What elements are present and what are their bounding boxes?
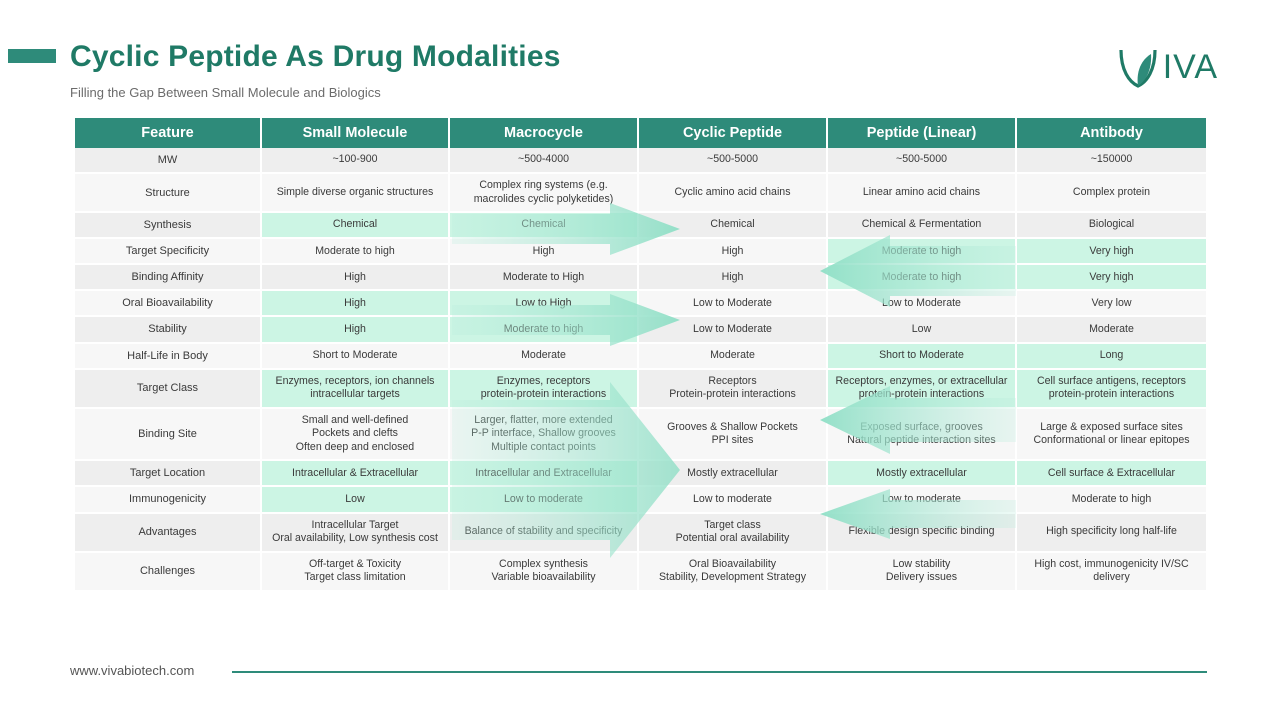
row-feature-label: Half-Life in Body: [75, 343, 261, 369]
table-cell: Oral BioavailabilityStability, Developme…: [638, 552, 827, 591]
table-cell: Balance of stability and specificity: [449, 513, 638, 552]
table-row: Binding SiteSmall and well-definedPocket…: [75, 408, 1206, 461]
table-cell: Low to moderate: [449, 486, 638, 512]
table-cell: Moderate to high: [261, 238, 449, 264]
row-feature-label: Structure: [75, 173, 261, 212]
table-cell: Mostly extracellular: [638, 460, 827, 486]
table-cell: Low to High: [449, 290, 638, 316]
column-header-feature: Feature: [75, 118, 261, 148]
table-cell: High: [638, 238, 827, 264]
table-cell: Larger, flatter, more extendedP-P interf…: [449, 408, 638, 461]
row-feature-label: Target Location: [75, 460, 261, 486]
table-cell: ~150000: [1016, 148, 1206, 173]
table-cell: Biological: [1016, 212, 1206, 238]
table-row: MW~100-900~500-4000~500-5000~500-5000~15…: [75, 148, 1206, 173]
table-cell: Simple diverse organic structures: [261, 173, 449, 212]
table-cell: Intracellular TargetOral availability, L…: [261, 513, 449, 552]
column-header-small-molecule: Small Molecule: [261, 118, 449, 148]
table-cell: Chemical: [261, 212, 449, 238]
table-cell: ~100-900: [261, 148, 449, 173]
table-cell: Low to moderate: [827, 486, 1016, 512]
table-cell: Low to moderate: [638, 486, 827, 512]
table-cell: ~500-5000: [638, 148, 827, 173]
table-cell: Intracellular & Extracellular: [261, 460, 449, 486]
row-feature-label: Oral Bioavailability: [75, 290, 261, 316]
table-cell: Linear amino acid chains: [827, 173, 1016, 212]
table-cell: Receptors, enzymes, or extracellularprot…: [827, 369, 1016, 408]
row-feature-label: Binding Affinity: [75, 264, 261, 290]
table-cell: Moderate: [1016, 316, 1206, 342]
table-cell: Cell surface & Extracellular: [1016, 460, 1206, 486]
table-cell: Low to Moderate: [638, 290, 827, 316]
column-header-cyclic-peptide: Cyclic Peptide: [638, 118, 827, 148]
table-cell: Complex synthesisVariable bioavailabilit…: [449, 552, 638, 591]
table-cell: Very high: [1016, 238, 1206, 264]
table-cell: Complex protein: [1016, 173, 1206, 212]
table-row: Target ClassEnzymes, receptors, ion chan…: [75, 369, 1206, 408]
table-cell: Low to Moderate: [827, 290, 1016, 316]
column-header-macrocycle: Macrocycle: [449, 118, 638, 148]
column-header-peptide-linear: Peptide (Linear): [827, 118, 1016, 148]
table-cell: Moderate: [638, 343, 827, 369]
table-cell: High: [261, 290, 449, 316]
table-cell: Target classPotential oral availability: [638, 513, 827, 552]
table-cell: Short to Moderate: [261, 343, 449, 369]
footer-url: www.vivabiotech.com: [70, 663, 194, 678]
table-cell: High: [638, 264, 827, 290]
table-cell: Complex ring systems (e.g. macrolides cy…: [449, 173, 638, 212]
table-row: Target SpecificityModerate to highHighHi…: [75, 238, 1206, 264]
table-cell: Very high: [1016, 264, 1206, 290]
row-feature-label: Target Class: [75, 369, 261, 408]
header-accent-bar: [8, 49, 56, 63]
column-header-antibody: Antibody: [1016, 118, 1206, 148]
page-subtitle: Filling the Gap Between Small Molecule a…: [70, 85, 381, 100]
table-cell: Low: [827, 316, 1016, 342]
table-cell: Moderate: [449, 343, 638, 369]
table-cell: Mostly extracellular: [827, 460, 1016, 486]
table-cell: Low: [261, 486, 449, 512]
table-cell: Exposed surface, groovesNatural peptide …: [827, 408, 1016, 461]
row-feature-label: Synthesis: [75, 212, 261, 238]
table-row: Binding AffinityHighModerate to HighHigh…: [75, 264, 1206, 290]
table-cell: Chemical & Fermentation: [827, 212, 1016, 238]
table-cell: Intracellular and Extracellular: [449, 460, 638, 486]
table-cell: High: [261, 316, 449, 342]
table-cell: Large & exposed surface sitesConformatio…: [1016, 408, 1206, 461]
table-row: AdvantagesIntracellular TargetOral avail…: [75, 513, 1206, 552]
table-cell: High cost, immunogenicity IV/SCdelivery: [1016, 552, 1206, 591]
table-row: StabilityHighModerate to highLow to Mode…: [75, 316, 1206, 342]
table-cell: Short to Moderate: [827, 343, 1016, 369]
table-header-row: Feature Small Molecule Macrocycle Cyclic…: [75, 118, 1206, 148]
row-feature-label: MW: [75, 148, 261, 173]
table-row: Half-Life in BodyShort to ModerateModera…: [75, 343, 1206, 369]
row-feature-label: Stability: [75, 316, 261, 342]
row-feature-label: Binding Site: [75, 408, 261, 461]
table-cell: Moderate to high: [827, 264, 1016, 290]
table-cell: Moderate to high: [1016, 486, 1206, 512]
table-cell: High specificity long half-life: [1016, 513, 1206, 552]
table-row: ChallengesOff-target & ToxicityTarget cl…: [75, 552, 1206, 591]
table-cell: Cell surface antigens, receptorsprotein-…: [1016, 369, 1206, 408]
table-cell: Very low: [1016, 290, 1206, 316]
table-cell: ~500-5000: [827, 148, 1016, 173]
table-row: StructureSimple diverse organic structur…: [75, 173, 1206, 212]
footer-divider: [232, 671, 1207, 673]
company-logo: IVA: [1115, 44, 1218, 90]
row-feature-label: Immunogenicity: [75, 486, 261, 512]
table-cell: High: [449, 238, 638, 264]
logo-text: IVA: [1163, 48, 1218, 87]
table-cell: High: [261, 264, 449, 290]
table-row: Target LocationIntracellular & Extracell…: [75, 460, 1206, 486]
table-cell: Long: [1016, 343, 1206, 369]
table-cell: Grooves & Shallow PocketsPPI sites: [638, 408, 827, 461]
table-cell: Enzymes, receptors, ion channelsintracel…: [261, 369, 449, 408]
table-cell: Moderate to high: [449, 316, 638, 342]
table-cell: Moderate to high: [827, 238, 1016, 264]
row-feature-label: Challenges: [75, 552, 261, 591]
row-feature-label: Target Specificity: [75, 238, 261, 264]
row-feature-label: Advantages: [75, 513, 261, 552]
table-row: ImmunogenicityLowLow to moderateLow to m…: [75, 486, 1206, 512]
table-cell: Cyclic amino acid chains: [638, 173, 827, 212]
table-cell: ReceptorsProtein-protein interactions: [638, 369, 827, 408]
table-row: SynthesisChemicalChemicalChemicalChemica…: [75, 212, 1206, 238]
table-cell: Off-target & ToxicityTarget class limita…: [261, 552, 449, 591]
table-cell: Chemical: [449, 212, 638, 238]
table-cell: Small and well-definedPockets and clefts…: [261, 408, 449, 461]
table-cell: Chemical: [638, 212, 827, 238]
table-cell: Low to Moderate: [638, 316, 827, 342]
table-cell: Flexible design specific binding: [827, 513, 1016, 552]
table-cell: Low stabilityDelivery issues: [827, 552, 1016, 591]
table-row: Oral BioavailabilityHighLow to HighLow t…: [75, 290, 1206, 316]
table-cell: ~500-4000: [449, 148, 638, 173]
viva-leaf-v-icon: [1115, 44, 1161, 90]
table-cell: Enzymes, receptorsprotein-protein intera…: [449, 369, 638, 408]
table-cell: Moderate to High: [449, 264, 638, 290]
page-title: Cyclic Peptide As Drug Modalities: [70, 40, 561, 74]
comparison-table: Feature Small Molecule Macrocycle Cyclic…: [75, 118, 1206, 592]
